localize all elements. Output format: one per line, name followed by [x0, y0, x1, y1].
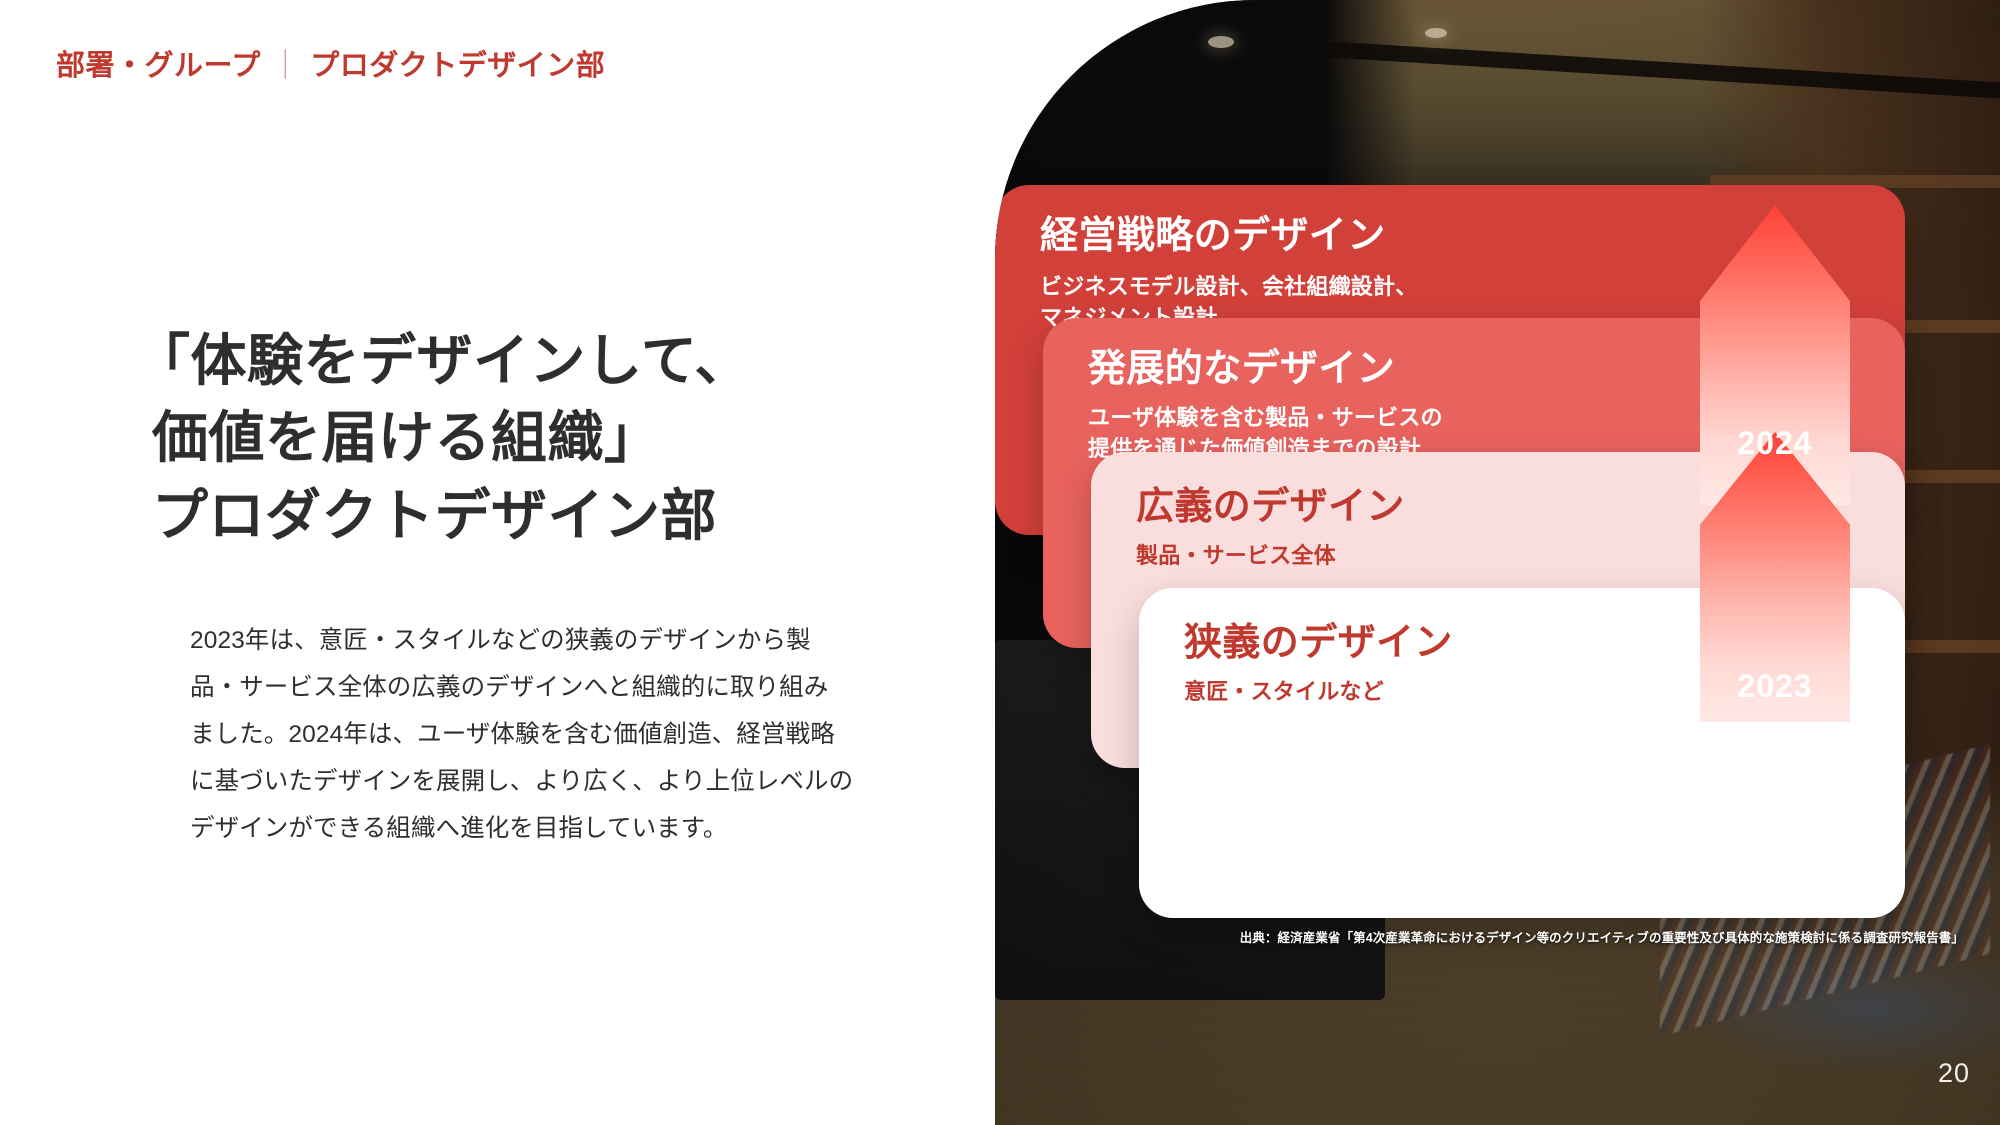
photo-panel: 経営戦略のデザイン ビジネスモデル設計、会社組織設計、 マネジメント設計 発展的… — [995, 0, 2000, 1125]
page-title-line-2: 価値を届ける組織」 — [152, 399, 751, 476]
breadcrumb-name: プロダクトデザイン部 — [310, 50, 605, 82]
body-line-3: ました。2024年は、ユーザ体験を含む価値創造、経営戦略 — [190, 711, 880, 758]
body-line-1: 2023年は、意匠・スタイルなどの狭義のデザインから製 — [190, 617, 880, 664]
page-number: 20 — [1938, 1058, 1970, 1089]
breadcrumb-divider-icon: ｜ — [261, 50, 311, 82]
body-line-2: 品・サービス全体の広義のデザインへと組織的に取り組み — [190, 664, 880, 711]
page-title-line-3: プロダクトデザイン部 — [152, 477, 751, 554]
breadcrumb-category: 部署・グループ — [56, 50, 261, 82]
body-line-5: デザインができる組織へ進化を目指しています。 — [190, 805, 880, 852]
year-label-2023: 2023 — [1700, 668, 1850, 705]
body-paragraph: 2023年は、意匠・スタイルなどの狭義のデザインから製 品・サービス全体の広義の… — [190, 617, 880, 852]
page-title: 「体験をデザインして、 価値を届ける組織」 プロダクトデザイン部 — [152, 322, 751, 554]
source-citation: 出典：経済産業省「第4次産業革命におけるデザイン等のクリエイティブの重要性及び具… — [995, 927, 1964, 946]
year-label-2024: 2024 — [1700, 425, 1850, 462]
body-line-4: に基づいたデザインを展開し、より広く、より上位レベルの — [190, 758, 880, 805]
page-title-line-1: 「体験をデザインして、 — [134, 322, 751, 399]
breadcrumb: 部署・グループ｜プロダクトデザイン部 — [56, 42, 605, 84]
slide-root: 部署・グループ｜プロダクトデザイン部 「体験をデザインして、 価値を届ける組織」… — [0, 0, 2000, 1125]
design-scope-diagram: 経営戦略のデザイン ビジネスモデル設計、会社組織設計、 マネジメント設計 発展的… — [995, 0, 2000, 1125]
